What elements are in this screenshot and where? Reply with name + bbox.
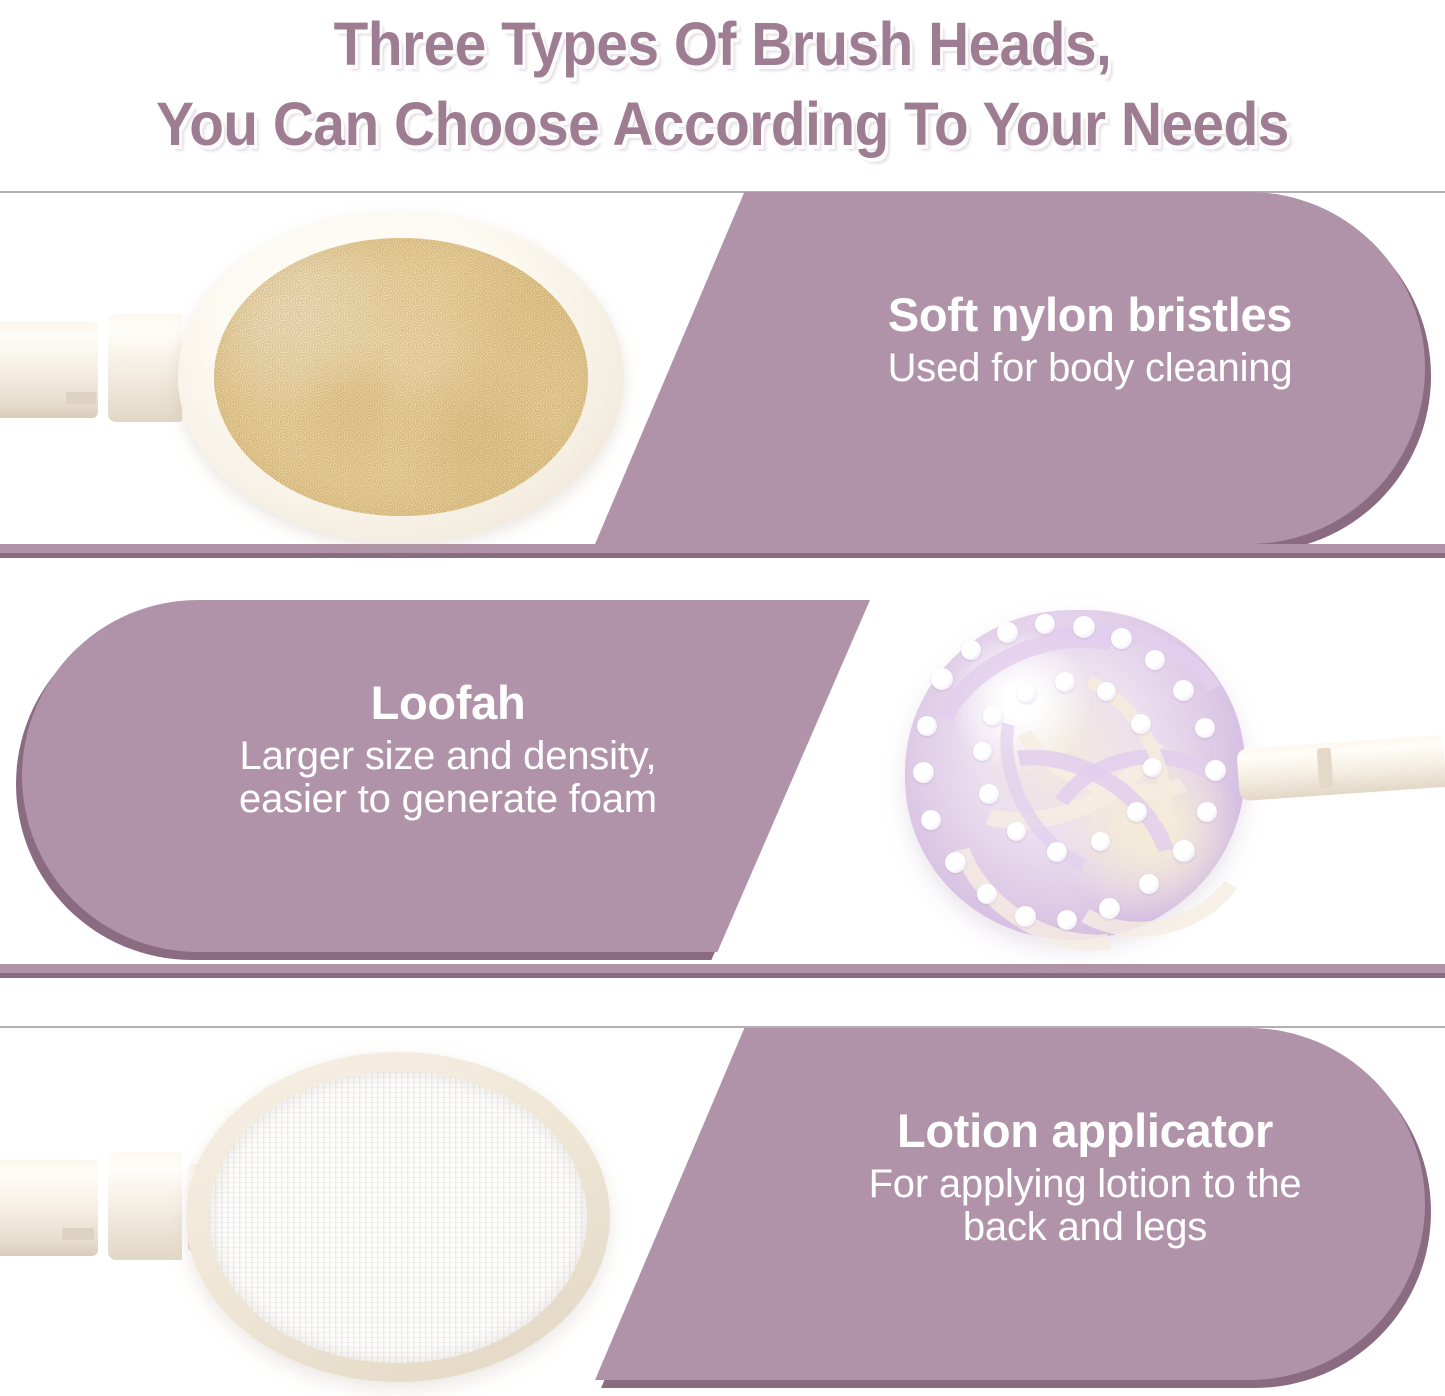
lotion-pad-texture [209, 1071, 587, 1363]
lotion-pad-disc [186, 1052, 610, 1382]
loofah-pom [1055, 672, 1075, 692]
loofah-pom [1091, 832, 1110, 851]
loofah-pom [945, 852, 966, 873]
loofah-pom [1127, 802, 1147, 822]
loofah-pom [1197, 802, 1217, 822]
loofah-pom [921, 810, 941, 830]
title-line-2: You Can Choose According To Your Needs [51, 84, 1395, 164]
panel-2-subtitle-line-2: easier to generate foam [108, 778, 788, 821]
loofah-pom [1145, 650, 1165, 670]
loofah-pom [913, 762, 934, 783]
loofah-pom [1139, 874, 1159, 894]
panel-1-text: Soft nylon bristles Used for body cleani… [770, 290, 1410, 390]
loofah-pouf [905, 610, 1245, 940]
handle-notch [66, 392, 96, 404]
loofah-pom [1173, 680, 1194, 701]
panel-1-title: Soft nylon bristles [770, 290, 1410, 341]
panel-3-title: Lotion applicator [760, 1106, 1410, 1157]
loofah-pom [931, 668, 953, 690]
handle-shaft [0, 1160, 98, 1256]
panel-2-title: Loofah [108, 678, 788, 729]
loofah-pom [1173, 840, 1195, 862]
bristle-texture [214, 238, 588, 516]
loofah-pom [1017, 684, 1036, 703]
loofah-pom [1111, 628, 1132, 649]
loofah-pom [917, 716, 937, 736]
page-title: Three Types Of Brush Heads, You Can Choo… [0, 0, 1445, 180]
panel-3-subtitle-line-2: back and legs [760, 1206, 1410, 1249]
loofah-pom [1047, 842, 1067, 862]
loofah-pom [977, 884, 997, 904]
loofah-pom [979, 784, 999, 804]
banner-bottom-bar [0, 544, 1445, 553]
handle-segment [108, 1152, 186, 1260]
loofah-pom [983, 706, 1003, 726]
loofah-pom [1057, 910, 1077, 930]
loofah-pom [997, 622, 1018, 643]
loofah-pom [1195, 718, 1215, 738]
panel-1-subtitle: Used for body cleaning [770, 347, 1410, 390]
panel-1-subtitle-line-1: Used for body cleaning [770, 347, 1410, 390]
loofah-pom [1205, 760, 1226, 781]
loofah-pom [961, 640, 981, 660]
handle-notch [1317, 748, 1334, 789]
panel-3-subtitle: For applying lotion to the back and legs [760, 1163, 1410, 1249]
panel-2-text: Loofah Larger size and density, easier t… [108, 678, 788, 821]
lotion-pad-surface [209, 1071, 587, 1363]
loofah-pom [1143, 758, 1162, 777]
title-line-1: Three Types Of Brush Heads, [51, 4, 1395, 84]
loofah-pom [1099, 898, 1120, 919]
loofah-pom [1015, 906, 1036, 927]
loofah-pom [1007, 822, 1026, 841]
brush-head-disc [178, 212, 624, 542]
panel-2-subtitle-line-1: Larger size and density, [108, 735, 788, 778]
handle-segment [108, 314, 186, 422]
handle-notch [62, 1228, 94, 1240]
loofah-pom [1035, 614, 1055, 634]
panel-2-subtitle: Larger size and density, easier to gener… [108, 735, 788, 821]
panel-3-subtitle-line-1: For applying lotion to the [760, 1163, 1410, 1206]
infographic-canvas: Three Types Of Brush Heads, You Can Choo… [0, 0, 1445, 1396]
banner-bottom-bar [0, 964, 1445, 973]
panel-3-text: Lotion applicator For applying lotion to… [760, 1106, 1410, 1249]
loofah-pom [1097, 682, 1116, 701]
loofah-pom [973, 742, 992, 761]
nylon-bristles [214, 238, 588, 516]
loofah-pom [1073, 616, 1095, 638]
loofah-pom [1131, 714, 1151, 734]
